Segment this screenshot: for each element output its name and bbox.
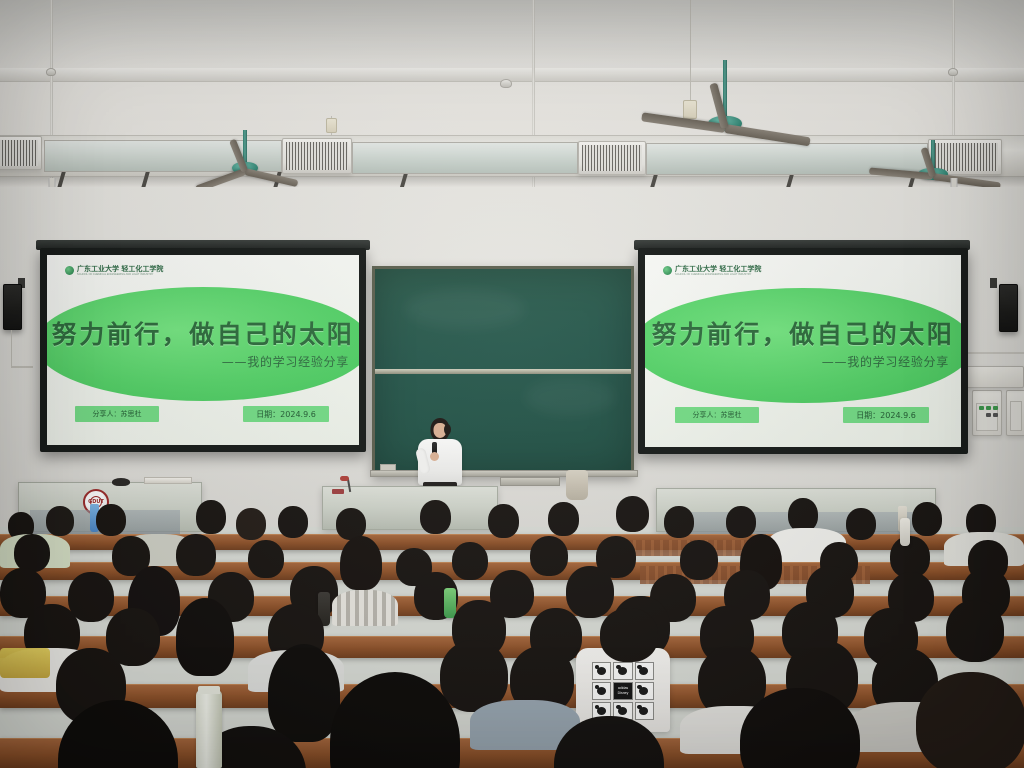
university-name-en: SCHOOL OF CHEMICAL ENGINEERING AND LIGHT…: [77, 274, 163, 277]
podium-item-red: [332, 489, 344, 494]
audience-head: [420, 500, 451, 534]
audience-head: [664, 506, 694, 538]
mickey-panel: [635, 682, 654, 700]
mickey-panel: [635, 662, 654, 680]
slide-title-left: 努力前行，做自己的太阳: [47, 315, 359, 351]
audience-long-hair: [340, 536, 382, 590]
audience-head: [548, 502, 579, 536]
cloth-on-rail: [566, 470, 588, 500]
hoodie-brand-text: adidas Disney: [614, 683, 631, 699]
gooseneck-mic-head: [340, 476, 349, 481]
slide-subtitle-right: ——我的学习经验分享: [822, 353, 949, 370]
date-tag-right: 日期：2024.9.6: [843, 407, 929, 423]
smoke-detector: [500, 79, 512, 88]
audience-body-striped: [332, 590, 398, 626]
audience-head: [96, 504, 126, 536]
electrical-cabinet-3: [966, 366, 1024, 388]
presenter-hand: [430, 452, 439, 461]
cabinet-face-2: [1010, 401, 1022, 431]
presenter-hair-tie: [444, 424, 451, 435]
wall-rail-left: [11, 366, 33, 368]
slide-left: 广东工业大学 轻工化工学院 SCHOOL OF CHEMICAL ENGINEE…: [47, 255, 359, 445]
ceiling-soffit: [0, 68, 1024, 82]
ceiling-fan-left: [185, 130, 305, 190]
hoodie-brand-badge: adidas Disney: [613, 682, 632, 700]
cabinet-indicator: [993, 413, 998, 417]
speaker-wire-left: [11, 330, 12, 368]
mickey-panel: [592, 682, 611, 700]
audience-head: [680, 540, 718, 580]
audience-head: [530, 536, 568, 576]
audience-head: [946, 600, 1004, 662]
thermos-cap: [198, 686, 220, 694]
date-tag-left: 日期：2024.9.6: [243, 406, 329, 422]
audience-head: [452, 542, 488, 580]
wall-speaker-left: [3, 284, 22, 330]
lectern-books: [144, 477, 192, 484]
chalk-eraser: [380, 464, 396, 471]
cabinet-indicator: [986, 413, 991, 417]
presenter-tag-right: 分享人：苏思杜: [675, 407, 759, 423]
university-logo-left: 广东工业大学 轻工化工学院 SCHOOL OF CHEMICAL ENGINEE…: [65, 264, 163, 277]
university-logo-right: 广东工业大学 轻工化工学院 SCHOOL OF CHEMICAL ENGINEE…: [663, 264, 761, 277]
brand-line-1: adidas: [618, 687, 628, 691]
snack-container: [0, 648, 50, 678]
projection-screen-right: 广东工业大学 轻工化工学院 SCHOOL OF CHEMICAL ENGINEE…: [638, 248, 968, 454]
chalk-tray-extension: [500, 477, 560, 486]
mickey-panel: [635, 702, 654, 720]
ac-grille-1: [0, 140, 38, 166]
ceiling-shadow: [0, 0, 1024, 72]
fan-blade: [724, 124, 810, 146]
audience-long-hair: [176, 598, 234, 676]
audience-head: [600, 608, 658, 662]
mickey-mouse-grid: adidas Disney: [592, 662, 654, 720]
audience-head: [278, 506, 308, 538]
mickey-panel: [592, 662, 611, 680]
audience-head: [566, 566, 614, 618]
projection-screen-left: 广东工业大学 轻工化工学院 SCHOOL OF CHEMICAL ENGINEE…: [40, 248, 366, 452]
audience-head: [46, 506, 74, 536]
lecture-hall-photo: 88:88 广东工业大学 轻工化工学院 SCHOOL OF CHEMICAL E…: [0, 0, 1024, 768]
slide-right: 广东工业大学 轻工化工学院 SCHOOL OF CHEMICAL ENGINEE…: [645, 255, 961, 447]
ceiling-fan-center: [630, 60, 820, 150]
audience-head: [176, 534, 216, 576]
audience-head: [488, 504, 519, 538]
brand-line-2: Disney: [618, 692, 629, 696]
cabinet-indicator: [979, 406, 984, 410]
thermos-foreground: [196, 690, 222, 768]
mickey-panel: [613, 662, 632, 680]
audience-head: [726, 506, 756, 538]
slide-subtitle-left: ——我的学习经验分享: [222, 353, 349, 370]
clerestory-window-2: [352, 142, 578, 174]
cabinet-indicator: [993, 406, 998, 410]
audience-head: [912, 502, 942, 536]
university-name-en: SCHOOL OF CHEMICAL ENGINEERING AND LIGHT…: [675, 274, 761, 277]
slide-title-right: 努力前行，做自己的太阳: [645, 315, 961, 351]
audience-head: [14, 534, 50, 572]
audience-long-hair: [268, 644, 340, 742]
cabinet-indicator: [986, 406, 991, 410]
audience-head: [196, 500, 226, 534]
speaker-bracket-right: [990, 278, 997, 288]
chalkboard-mid-rail: [375, 369, 631, 374]
lectern-bowl: [112, 478, 130, 486]
audience-head: [846, 508, 876, 540]
ceiling-mount-left: [46, 68, 56, 76]
presenter-tag-left: 分享人：苏思杜: [75, 406, 159, 422]
chalk-smudge: [405, 289, 525, 329]
wall-speaker-right: [999, 284, 1018, 332]
audience-head: [236, 508, 266, 540]
fan-blade: [244, 168, 298, 187]
audience-head: [248, 540, 284, 578]
chalk-smudge: [525, 379, 615, 415]
electrical-cabinet-2: [1006, 390, 1024, 436]
wall-socket-left: [326, 118, 337, 133]
audience-head: [616, 496, 649, 532]
audience-head: [788, 498, 818, 532]
ceiling-mount-right: [948, 68, 958, 76]
university-logo-mark: [663, 266, 672, 275]
fan-blade: [641, 112, 725, 133]
ac-unit-1: [0, 136, 42, 170]
audience-head-foreground: [916, 672, 1024, 768]
water-bottle-row6: [900, 518, 910, 546]
audience-head: [68, 572, 114, 622]
university-logo-mark: [65, 266, 74, 275]
electrical-cabinet-1: [972, 390, 1002, 436]
